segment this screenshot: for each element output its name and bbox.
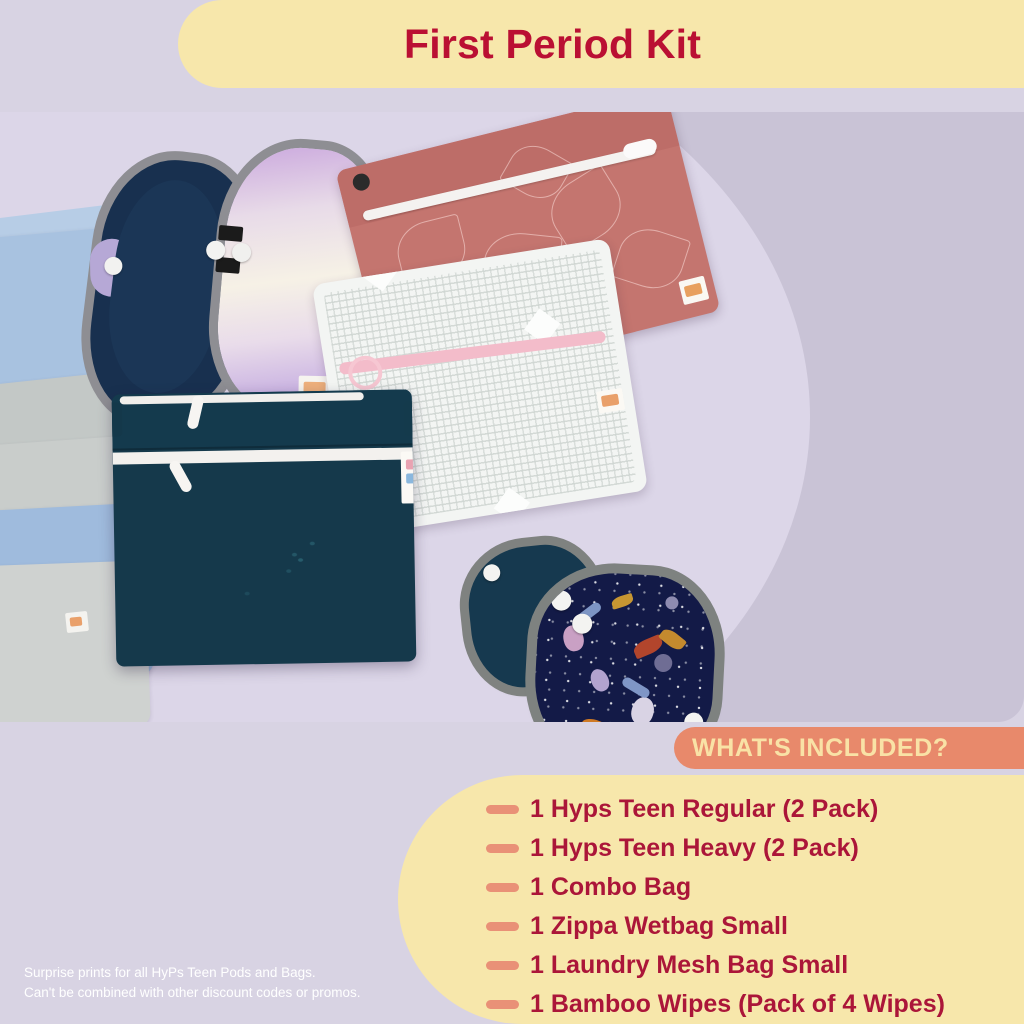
list-item: 1 Laundry Mesh Bag Small xyxy=(486,947,1024,984)
brand-tag-icon xyxy=(65,611,89,633)
snap-button-icon xyxy=(231,242,252,263)
fineprint-line-2: Can't be combined with other discount co… xyxy=(24,983,454,1003)
page-title: First Period Kit xyxy=(404,24,701,65)
dash-bullet-icon xyxy=(486,805,519,814)
list-item-label: 1 Laundry Mesh Bag Small xyxy=(530,953,848,978)
pad-core xyxy=(100,174,233,400)
included-list: 1 Hyps Teen Regular (2 Pack) 1 Hyps Teen… xyxy=(486,791,1024,1023)
zipper-icon xyxy=(120,392,364,404)
whats-included-label: WHAT'S INCLUDED? xyxy=(692,736,949,761)
list-item: 1 Zippa Wetbag Small xyxy=(486,908,1024,945)
combo-bag-strap xyxy=(112,402,123,437)
product-photo xyxy=(0,112,1024,722)
list-item: 1 Hyps Teen Regular (2 Pack) xyxy=(486,791,1024,828)
brand-tag-icon xyxy=(678,276,709,306)
dash-bullet-icon xyxy=(486,922,519,931)
dash-bullet-icon xyxy=(486,844,519,853)
combo-bag-top-panel xyxy=(112,389,413,450)
brand-tag-icon xyxy=(596,388,625,414)
included-list-card: 1 Hyps Teen Regular (2 Pack) 1 Hyps Teen… xyxy=(398,775,1024,1024)
product-space-pad-front xyxy=(531,569,718,722)
list-item-label: 1 Zippa Wetbag Small xyxy=(530,914,788,939)
list-item-label: 1 Hyps Teen Heavy (2 Pack) xyxy=(530,836,859,861)
list-item-label: 1 Combo Bag xyxy=(530,875,691,900)
dash-bullet-icon xyxy=(486,961,519,970)
whats-included-badge: WHAT'S INCLUDED? xyxy=(674,727,1024,769)
dash-bullet-icon xyxy=(486,1000,519,1009)
list-item-label: 1 Hyps Teen Regular (2 Pack) xyxy=(530,797,878,822)
header-banner: First Period Kit xyxy=(178,0,1024,88)
promo-graphic: First Period Kit xyxy=(0,0,1024,1024)
snap-button-icon xyxy=(482,563,501,582)
fineprint: Surprise prints for all HyPs Teen Pods a… xyxy=(24,963,454,1004)
dash-bullet-icon xyxy=(486,883,519,892)
list-item: 1 Combo Bag xyxy=(486,869,1024,906)
care-label-icon xyxy=(218,225,243,242)
fineprint-line-1: Surprise prints for all HyPs Teen Pods a… xyxy=(24,963,454,983)
list-item-label: 1 Bamboo Wipes (Pack of 4 Wipes) xyxy=(530,992,945,1017)
list-item: 1 Hyps Teen Heavy (2 Pack) xyxy=(486,830,1024,867)
product-navy-combo-bag xyxy=(112,389,417,666)
list-item: 1 Bamboo Wipes (Pack of 4 Wipes) xyxy=(486,986,1024,1023)
